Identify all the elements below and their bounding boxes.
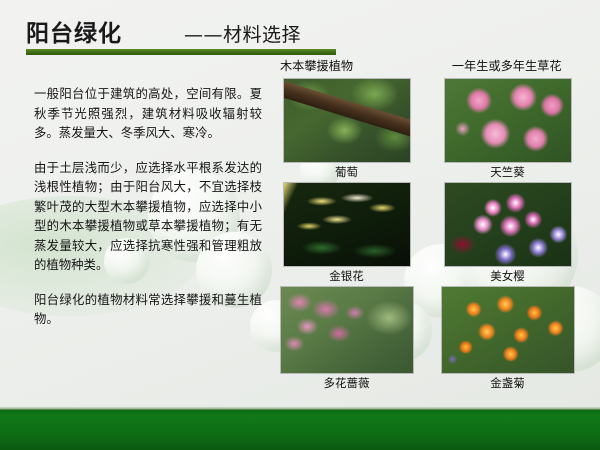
- gallery-row: 金银花 美女樱: [266, 182, 588, 284]
- gallery-cell-calendula: 金盏菊: [427, 286, 588, 391]
- photo-caption: 金盏菊: [490, 376, 525, 391]
- page-subtitle: ——材料选择: [184, 20, 301, 47]
- gallery-row: 葡萄 天竺葵: [266, 78, 588, 180]
- photo-caption: 多花蔷薇: [324, 376, 370, 391]
- gallery-cell-multiflora-rose: 多花蔷薇: [266, 286, 427, 391]
- plant-gallery: 木本攀援植物 一年生或多年生草花 葡萄 天竺葵 金银花: [266, 56, 588, 391]
- column-header-annual-perennial-flowers: 一年生或多年生草花: [425, 56, 588, 74]
- gallery-cell-grape: 葡萄: [266, 78, 427, 180]
- verbena-photo: [444, 182, 572, 267]
- honeysuckle-photo: [283, 182, 411, 267]
- title-row: 阳台绿化 ——材料选择: [26, 14, 574, 48]
- column-header-woody-vines: 木本攀援植物: [266, 56, 425, 74]
- presentation-slide: 阳台绿化 ——材料选择 一般阳台位于建筑的高处，空间有限。夏秋季节光照强烈，建筑…: [0, 0, 600, 450]
- title-underline-rule: [26, 49, 336, 55]
- calendula-photo: [441, 286, 575, 374]
- body-paragraph: 一般阳台位于建筑的高处，空间有限。夏秋季节光照强烈，建筑材料吸收辐射较多。蒸发量…: [34, 84, 262, 143]
- page-title: 阳台绿化: [26, 14, 122, 48]
- slide-title-block: 阳台绿化 ——材料选择: [26, 14, 574, 55]
- gallery-cell-geranium: 天竺葵: [427, 78, 588, 180]
- gallery-cell-honeysuckle: 金银花: [266, 182, 427, 284]
- geranium-photo: [444, 78, 572, 163]
- photo-caption: 天竺葵: [490, 165, 525, 180]
- body-paragraph: 阳台绿化的植物材料常选择攀援和蔓生植物。: [34, 290, 262, 329]
- photo-caption: 美女樱: [490, 269, 525, 284]
- body-text-block: 一般阳台位于建筑的高处，空间有限。夏秋季节光照强烈，建筑材料吸收辐射较多。蒸发量…: [34, 84, 262, 329]
- photo-caption: 金银花: [329, 269, 364, 284]
- photo-caption: 葡萄: [335, 165, 358, 180]
- gallery-column-headers: 木本攀援植物 一年生或多年生草花: [266, 56, 588, 74]
- footer-bar: [0, 410, 600, 450]
- gallery-grid: 葡萄 天竺葵 金银花 美女樱: [266, 78, 588, 391]
- grape-vine-photo: [283, 78, 411, 163]
- body-paragraph: 由于土层浅而少，应选择水平根系发达的浅根性植物；由于阳台风大，不宜选择枝繁叶茂的…: [34, 158, 262, 275]
- gallery-cell-verbena: 美女樱: [427, 182, 588, 284]
- multiflora-rose-photo: [280, 286, 414, 374]
- gallery-row: 多花蔷薇 金盏菊: [266, 286, 588, 391]
